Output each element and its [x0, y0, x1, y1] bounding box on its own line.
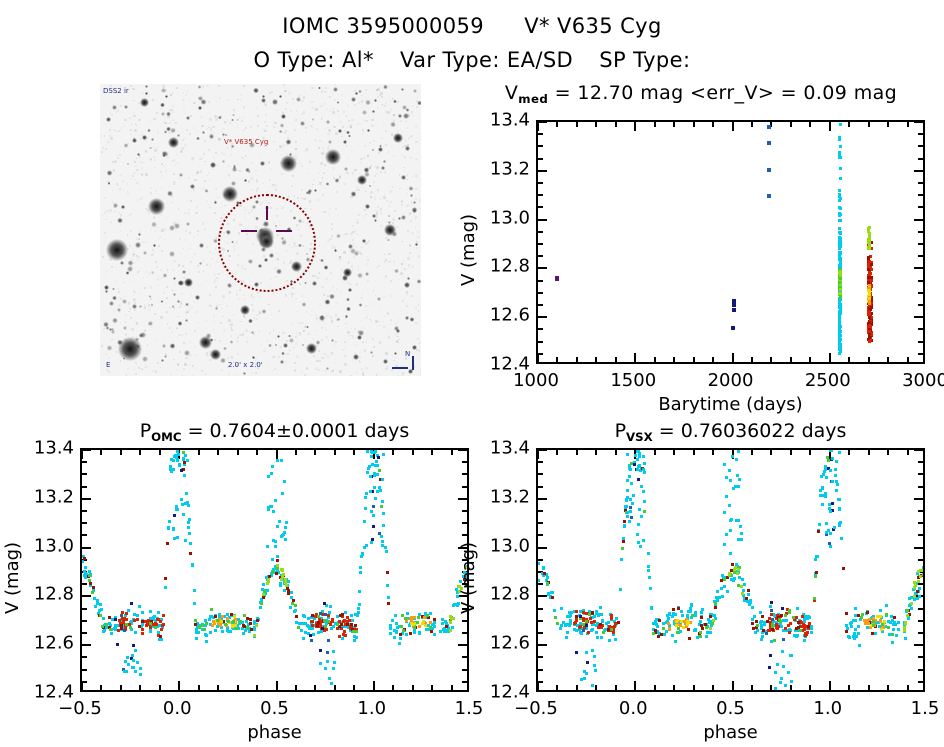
- background-noise: [361, 100, 363, 102]
- field-star: [162, 154, 165, 157]
- data-point: [364, 496, 367, 499]
- background-noise: [251, 372, 253, 374]
- background-noise: [275, 189, 277, 191]
- background-noise: [181, 293, 183, 295]
- data-point: [858, 644, 861, 647]
- y-tick-minor: [918, 473, 923, 475]
- background-noise: [134, 129, 137, 132]
- background-noise: [166, 217, 167, 218]
- background-noise: [141, 167, 143, 169]
- background-noise: [301, 189, 303, 191]
- field-star: [337, 318, 340, 321]
- background-noise: [409, 212, 411, 214]
- background-noise: [184, 113, 185, 114]
- background-noise: [388, 151, 390, 153]
- data-point: [380, 505, 383, 508]
- data-point: [726, 590, 729, 593]
- data-point: [782, 665, 785, 668]
- data-point: [133, 619, 136, 622]
- bright-star: [140, 98, 149, 107]
- data-point: [381, 478, 384, 481]
- phase-vsx-title: PVSX = 0.76036022 days: [536, 420, 925, 442]
- y-axis-tick-label: 12.6: [480, 633, 530, 654]
- background-noise: [148, 212, 150, 214]
- background-noise: [189, 133, 191, 135]
- data-point: [780, 677, 783, 680]
- y-tick-minor: [538, 280, 543, 282]
- background-noise: [335, 208, 337, 210]
- data-point: [668, 612, 671, 615]
- background-noise: [386, 200, 388, 202]
- field-star: [335, 178, 340, 183]
- x-tick-minor: [392, 685, 394, 690]
- background-noise: [190, 341, 191, 342]
- background-noise: [393, 360, 395, 362]
- background-noise: [354, 344, 356, 346]
- background-noise: [228, 174, 230, 176]
- background-noise: [310, 314, 312, 316]
- background-noise: [388, 253, 390, 255]
- y-tick-minor: [82, 522, 87, 524]
- y-tick-minor: [538, 608, 543, 610]
- background-noise: [325, 244, 326, 245]
- background-noise: [415, 227, 416, 228]
- background-noise: [312, 338, 314, 340]
- y-tick-minor: [918, 341, 923, 343]
- background-noise: [273, 356, 275, 358]
- data-point: [123, 629, 126, 632]
- data-point: [879, 615, 882, 618]
- background-noise: [193, 127, 195, 129]
- field-star: [318, 87, 320, 89]
- data-point: [168, 520, 171, 523]
- data-point: [585, 672, 588, 675]
- background-noise: [129, 245, 131, 247]
- background-noise: [231, 356, 233, 358]
- data-point: [599, 606, 602, 609]
- background-noise: [139, 261, 140, 262]
- background-noise: [179, 238, 181, 240]
- background-noise: [374, 361, 375, 362]
- background-noise: [220, 322, 222, 324]
- background-noise: [206, 175, 208, 177]
- field-star: [170, 343, 176, 349]
- background-noise: [361, 247, 362, 248]
- data-point: [629, 498, 632, 501]
- field-star: [145, 85, 148, 88]
- x-tick-minor: [693, 357, 695, 362]
- background-noise: [308, 333, 310, 335]
- x-tick-major: [732, 122, 734, 131]
- background-noise: [378, 373, 379, 374]
- vartype-label: Var Type:: [400, 48, 500, 72]
- data-point: [839, 277, 842, 280]
- background-noise: [157, 131, 159, 133]
- data-point: [642, 539, 645, 542]
- background-noise: [220, 370, 221, 371]
- background-noise: [134, 309, 136, 311]
- data-point: [795, 616, 798, 619]
- background-noise: [321, 147, 324, 150]
- background-noise: [216, 100, 218, 102]
- field-star: [302, 344, 304, 346]
- data-point: [131, 666, 134, 669]
- background-noise: [365, 190, 367, 192]
- x-tick-minor: [887, 450, 889, 455]
- background-noise: [294, 129, 296, 131]
- background-noise: [295, 343, 298, 346]
- background-noise: [214, 281, 216, 283]
- data-point: [550, 591, 553, 594]
- data-point: [291, 602, 294, 605]
- data-point: [297, 626, 300, 629]
- data-point: [360, 555, 363, 558]
- background-noise: [390, 100, 391, 101]
- data-point: [375, 460, 378, 463]
- field-star: [262, 309, 267, 314]
- background-noise: [325, 87, 327, 89]
- background-noise: [279, 332, 280, 333]
- data-point: [847, 635, 850, 638]
- data-point: [333, 661, 336, 664]
- x-tick-minor: [576, 450, 578, 455]
- background-noise: [303, 198, 305, 200]
- data-point: [284, 538, 287, 541]
- field-star: [262, 95, 265, 98]
- field-star: [148, 321, 153, 326]
- background-noise: [213, 315, 215, 317]
- data-point: [917, 580, 920, 583]
- data-point: [386, 584, 389, 587]
- background-noise: [387, 111, 389, 113]
- data-point: [591, 684, 594, 687]
- background-noise: [219, 340, 221, 342]
- data-point: [868, 340, 871, 343]
- data-point: [903, 629, 906, 632]
- background-noise: [154, 159, 156, 161]
- field-star: [151, 138, 154, 141]
- background-noise: [331, 223, 332, 224]
- background-noise: [130, 230, 132, 232]
- background-noise: [396, 226, 398, 228]
- data-point: [276, 567, 279, 570]
- background-noise: [127, 234, 129, 236]
- data-point: [188, 518, 191, 521]
- data-point: [918, 595, 921, 598]
- field-star: [139, 305, 142, 308]
- data-point: [138, 605, 141, 608]
- background-noise: [166, 297, 168, 299]
- field-star: [196, 137, 199, 140]
- background-noise: [139, 238, 140, 239]
- background-noise: [205, 350, 206, 351]
- background-noise: [335, 132, 338, 135]
- field-star: [124, 105, 128, 109]
- background-noise: [215, 152, 216, 153]
- background-noise: [419, 350, 421, 352]
- background-noise: [384, 279, 385, 280]
- background-noise: [132, 175, 134, 177]
- background-noise: [110, 111, 112, 113]
- background-noise: [161, 250, 163, 252]
- data-point: [769, 605, 772, 608]
- background-noise: [215, 286, 217, 288]
- data-point: [867, 246, 870, 249]
- x-tick-major: [634, 122, 636, 131]
- background-noise: [164, 122, 166, 124]
- field-star: [112, 288, 114, 290]
- data-point: [172, 527, 175, 530]
- y-axis-title: V (mag): [458, 542, 479, 614]
- x-tick-minor: [693, 122, 695, 127]
- background-noise: [144, 287, 146, 289]
- x-tick-minor: [654, 122, 656, 127]
- data-point: [382, 453, 385, 456]
- field-star: [394, 269, 398, 273]
- background-noise: [213, 157, 214, 158]
- background-noise: [389, 190, 391, 192]
- data-point: [355, 630, 358, 633]
- background-noise: [357, 139, 358, 140]
- background-noise: [309, 161, 311, 163]
- y-tick-major: [914, 498, 923, 500]
- background-noise: [335, 341, 337, 343]
- data-point: [126, 656, 129, 659]
- x-tick-minor: [412, 450, 414, 455]
- field-star: [398, 114, 402, 118]
- background-noise: [321, 357, 323, 359]
- background-noise: [231, 154, 232, 155]
- data-point: [824, 466, 827, 469]
- data-point: [824, 492, 827, 495]
- background-noise: [340, 121, 342, 123]
- background-noise: [381, 96, 383, 98]
- background-noise: [331, 228, 333, 230]
- background-noise: [301, 322, 303, 324]
- background-noise: [358, 102, 360, 104]
- background-noise: [413, 166, 414, 167]
- data-point: [839, 167, 842, 170]
- data-point: [747, 589, 750, 592]
- field-star: [353, 354, 359, 360]
- background-noise: [257, 125, 259, 127]
- background-noise: [183, 248, 184, 249]
- background-noise: [101, 345, 102, 346]
- y-axis-tick-label: 13.4: [24, 438, 74, 459]
- data-point: [788, 609, 791, 612]
- background-noise: [358, 193, 359, 194]
- data-point: [441, 622, 444, 625]
- background-noise: [347, 104, 350, 107]
- field-star: [260, 161, 265, 166]
- data-point: [913, 595, 916, 598]
- data-point: [410, 622, 413, 625]
- field-star: [117, 308, 121, 312]
- data-point: [358, 603, 361, 606]
- y-tick-minor: [82, 656, 87, 658]
- background-noise: [257, 115, 259, 117]
- data-point: [134, 631, 137, 634]
- background-noise: [183, 342, 186, 345]
- data-point: [274, 545, 277, 548]
- background-noise: [157, 362, 159, 364]
- data-point: [922, 573, 923, 576]
- background-noise: [182, 99, 184, 101]
- data-point: [854, 619, 857, 622]
- data-point: [838, 281, 841, 284]
- background-noise: [276, 373, 277, 374]
- data-point: [144, 620, 147, 623]
- background-noise: [264, 149, 265, 150]
- background-noise: [412, 106, 413, 107]
- background-noise: [250, 178, 252, 180]
- field-star: [281, 114, 286, 119]
- data-point: [304, 622, 307, 625]
- background-noise: [306, 148, 308, 150]
- data-point: [417, 616, 420, 619]
- data-point: [92, 586, 95, 589]
- background-noise: [321, 90, 324, 93]
- background-noise: [161, 175, 163, 177]
- data-point: [829, 532, 832, 535]
- background-noise: [367, 259, 370, 262]
- background-noise: [393, 260, 395, 262]
- background-noise: [352, 239, 354, 241]
- data-point: [668, 628, 671, 631]
- data-point: [913, 586, 916, 589]
- background-noise: [399, 188, 400, 189]
- background-noise: [341, 133, 342, 134]
- background-noise: [293, 293, 295, 295]
- data-point: [825, 531, 828, 534]
- data-point: [590, 629, 593, 632]
- data-point: [663, 633, 666, 636]
- background-noise: [164, 222, 165, 223]
- data-point: [270, 472, 273, 475]
- background-noise: [295, 141, 297, 143]
- data-point: [233, 615, 236, 618]
- background-noise: [130, 317, 132, 319]
- data-point: [829, 545, 832, 548]
- background-noise: [183, 368, 185, 370]
- field-star: [178, 280, 184, 286]
- background-noise: [327, 356, 328, 357]
- field-star: [126, 271, 129, 274]
- data-point: [776, 663, 779, 666]
- y-tick-major: [458, 450, 467, 451]
- data-point: [834, 468, 837, 471]
- data-point: [655, 623, 658, 626]
- background-noise: [190, 115, 192, 117]
- data-point: [210, 608, 213, 611]
- data-point: [887, 626, 890, 629]
- y-tick-major: [538, 547, 547, 549]
- background-noise: [329, 115, 330, 116]
- background-noise: [166, 265, 167, 266]
- background-noise: [268, 304, 270, 306]
- data-point: [628, 520, 631, 523]
- background-noise: [282, 332, 284, 334]
- data-point: [546, 582, 549, 585]
- background-noise: [356, 189, 358, 191]
- x-tick-minor: [809, 450, 811, 455]
- background-noise: [412, 113, 413, 114]
- data-point: [283, 480, 286, 483]
- data-point: [869, 325, 872, 328]
- y-tick-minor: [918, 669, 923, 671]
- data-point: [701, 627, 704, 630]
- data-point: [220, 620, 223, 623]
- data-point: [573, 628, 576, 631]
- y-tick-minor: [918, 194, 923, 196]
- field-star: [174, 223, 179, 228]
- background-noise: [330, 238, 332, 240]
- data-point: [626, 511, 629, 514]
- background-noise: [383, 321, 384, 322]
- y-tick-minor: [462, 486, 467, 488]
- background-noise: [229, 324, 231, 326]
- data-point: [373, 451, 376, 454]
- field-star: [145, 92, 148, 95]
- background-noise: [230, 327, 231, 328]
- field-star: [283, 343, 288, 348]
- x-tick-minor: [120, 685, 122, 690]
- background-noise: [237, 353, 239, 355]
- data-point: [433, 618, 436, 621]
- background-noise: [265, 114, 266, 115]
- background-noise: [145, 141, 146, 142]
- data-point: [154, 622, 157, 625]
- field-star: [289, 338, 294, 343]
- data-point: [332, 667, 335, 670]
- background-noise: [324, 164, 326, 166]
- background-noise: [169, 109, 171, 111]
- background-noise: [156, 112, 158, 114]
- background-noise: [135, 165, 137, 167]
- data-point: [767, 141, 771, 145]
- field-star: [107, 170, 112, 175]
- background-noise: [205, 373, 206, 374]
- data-point: [802, 625, 805, 628]
- data-point: [626, 453, 629, 456]
- field-star: [410, 194, 413, 197]
- background-noise: [369, 142, 370, 143]
- background-noise: [118, 110, 120, 112]
- background-noise: [145, 151, 147, 153]
- x-tick-minor: [431, 685, 433, 690]
- data-point: [854, 607, 857, 610]
- y-tick-minor: [82, 534, 87, 536]
- data-point: [595, 631, 598, 634]
- data-point: [784, 627, 787, 630]
- background-noise: [214, 274, 216, 276]
- background-noise: [160, 367, 161, 368]
- data-point: [610, 617, 613, 620]
- data-point: [630, 482, 633, 485]
- background-noise: [133, 100, 135, 102]
- data-point: [372, 525, 375, 528]
- data-point: [634, 454, 637, 457]
- data-point: [834, 474, 837, 477]
- vmed-summary: Vmed = 12.70 mag <err_V> = 0.09 mag: [466, 82, 936, 104]
- background-noise: [397, 336, 398, 337]
- background-noise: [166, 311, 168, 313]
- data-point: [198, 626, 201, 629]
- data-point: [183, 474, 186, 477]
- data-point: [831, 502, 834, 505]
- data-point: [629, 506, 632, 509]
- data-point: [376, 473, 379, 476]
